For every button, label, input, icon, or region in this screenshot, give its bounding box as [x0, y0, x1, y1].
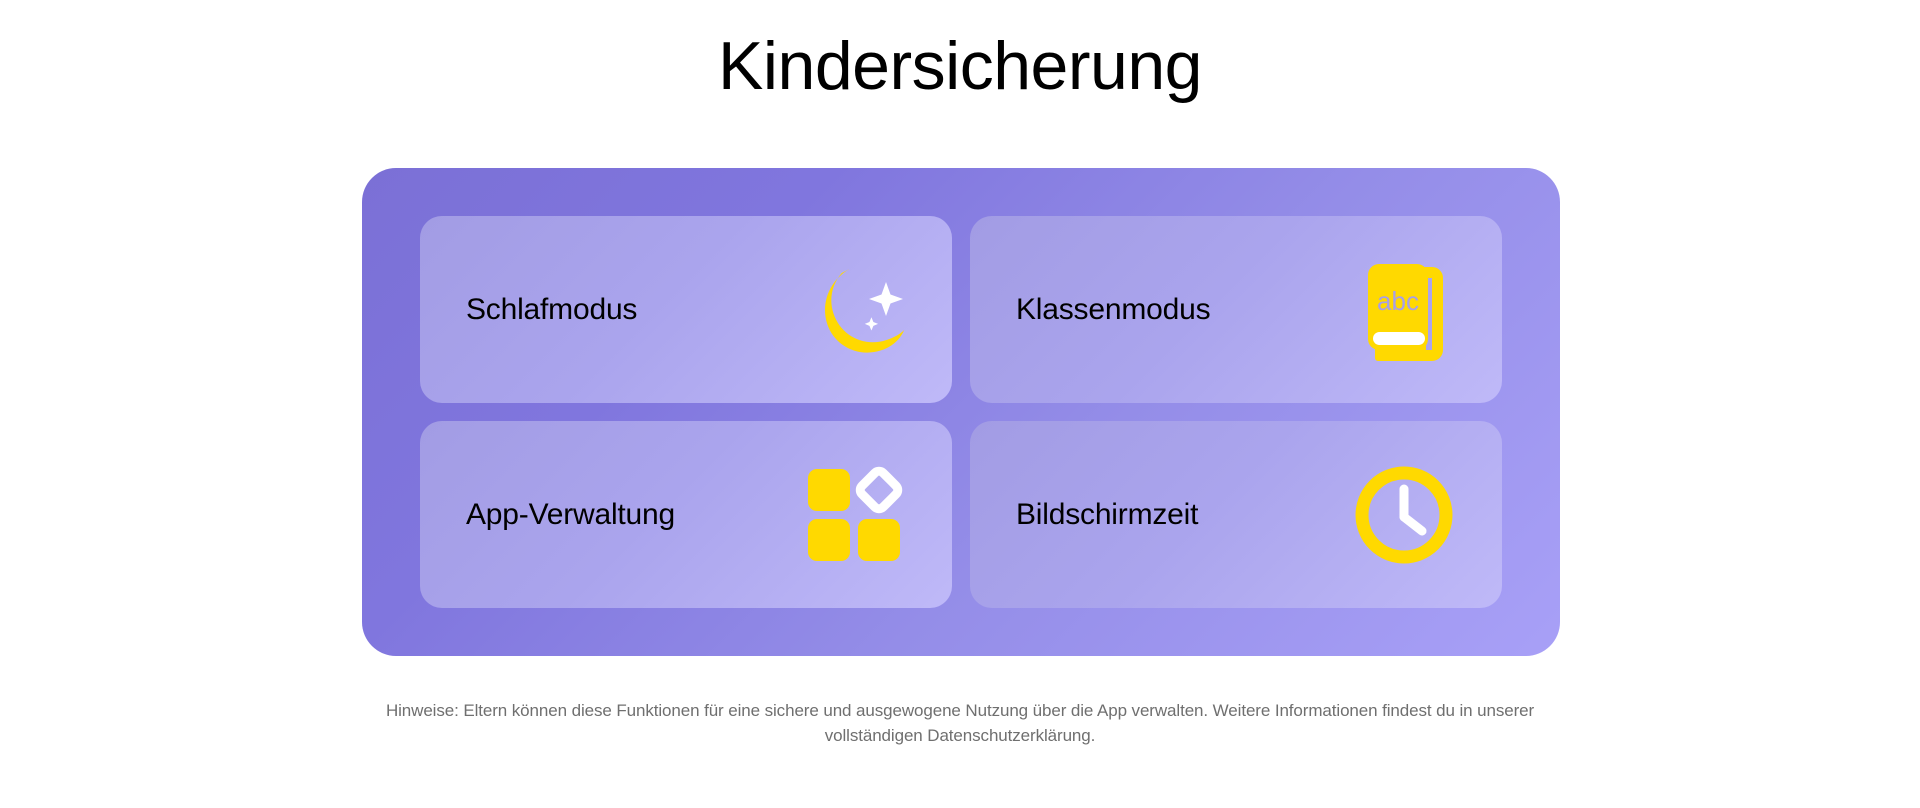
abc-book-icon: abc	[1350, 256, 1458, 364]
clock-icon	[1350, 461, 1458, 569]
page-title: Kindersicherung	[0, 22, 1920, 110]
app-grid-icon	[800, 461, 908, 569]
feature-card-bildschirmzeit[interactable]: Bildschirmzeit	[970, 421, 1502, 608]
feature-panel: Schlafmodus Klassenmodus	[362, 168, 1560, 656]
feature-card-app-verwaltung[interactable]: App-Verwaltung	[420, 421, 952, 608]
feature-card-klassenmodus[interactable]: Klassenmodus abc	[970, 216, 1502, 403]
feature-card-label: Klassenmodus	[1016, 292, 1210, 328]
crescent-moon-icon	[800, 256, 908, 364]
kindersicherung-page: Kindersicherung Schlafmodus Klassenmodus	[0, 0, 1920, 808]
abc-book-icon-text: abc	[1377, 286, 1419, 316]
feature-card-schlafmodus[interactable]: Schlafmodus	[420, 216, 952, 403]
feature-card-label: Schlafmodus	[466, 292, 637, 328]
feature-card-label: App-Verwaltung	[466, 497, 675, 533]
feature-card-label: Bildschirmzeit	[1016, 497, 1198, 533]
footnote-text: Hinweise: Eltern können diese Funktionen…	[370, 698, 1550, 748]
